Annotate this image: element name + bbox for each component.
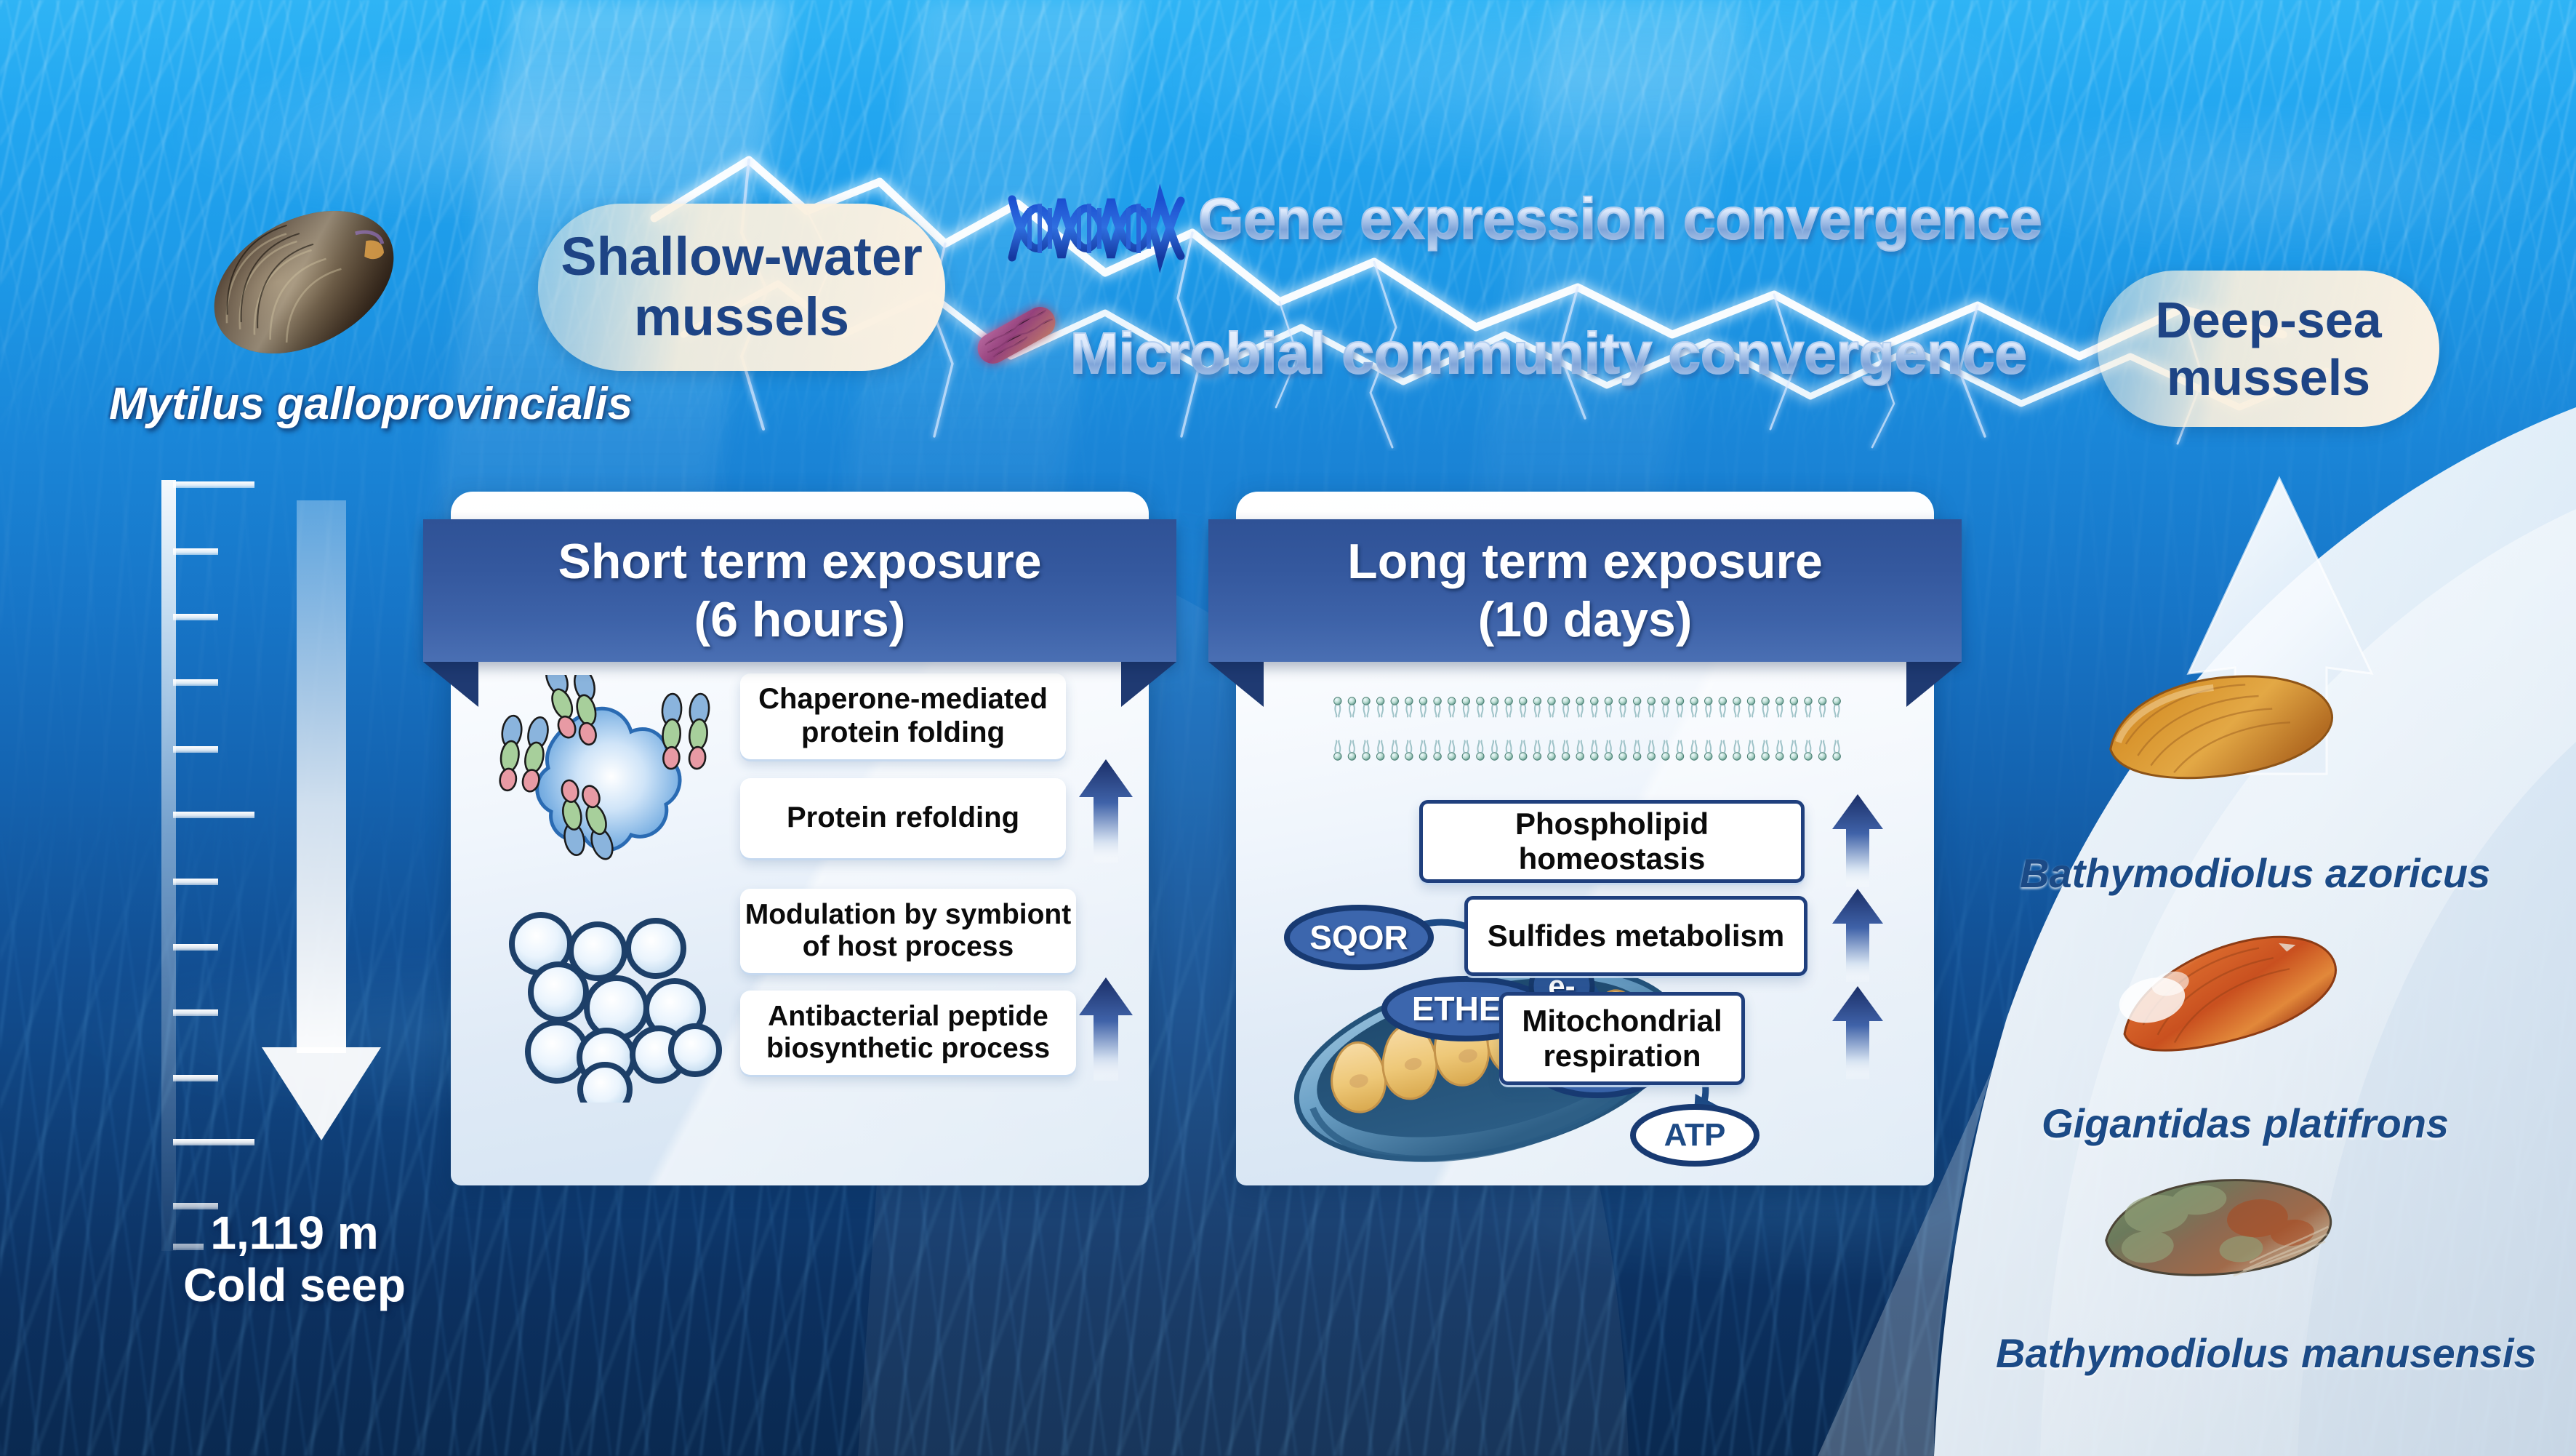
process-box-protein-refolding: Protein refolding [740, 778, 1066, 858]
process-line-1: Antibacterial peptide [766, 1001, 1050, 1033]
depth-value-label: 1,119 m Cold seep [174, 1207, 414, 1311]
process-box-mitochondrial-respiration: Mitochondrial respiration [1499, 992, 1745, 1085]
panel-title-line-1: Long term exposure [1347, 532, 1823, 591]
process-line-1: Protein refolding [787, 801, 1019, 835]
species-name-platifrons: Gigantidas platifrons [2042, 1100, 2449, 1147]
shallow-species-name: Mytilus galloprovincialis [109, 378, 633, 430]
process-line-1: Phospholipid homeostasis [1423, 807, 1801, 876]
panel-long-term: Long term exposure (10 days) [1236, 465, 1934, 1185]
pathway-node-sqor-label: SQOR [1284, 905, 1434, 970]
graphical-abstract-figure: Gene expression convergence Microbial co… [0, 0, 2576, 1456]
panel-title-line-1: Short term exposure [558, 532, 1041, 591]
mussel-photo-azoricus [2095, 658, 2343, 796]
process-box-symbiont-modulation: Modulation by symbiont of host process [740, 889, 1076, 973]
convergence-line-microbial: Microbial community convergence [1070, 320, 2027, 387]
depth-ruler-icon [153, 473, 458, 1287]
dna-double-helix-icon [1005, 179, 1187, 273]
process-line-1: Modulation by symbiont [745, 899, 1071, 931]
process-line-2: respiration [1522, 1039, 1722, 1073]
panel-title-line-2: (6 hours) [694, 591, 906, 649]
up-arrow-icon [1078, 975, 1134, 1084]
pill-line-1: Shallow-water [561, 227, 923, 287]
process-box-chaperone-folding: Chaperone-mediated protein folding [740, 673, 1066, 759]
process-box-antibacterial-peptide: Antibacterial peptide biosynthetic proce… [740, 991, 1076, 1075]
ribbon-fold-right [1906, 662, 1962, 707]
shallow-water-mussel-photo [188, 188, 420, 377]
pathway-node-sqor: SQOR [1284, 905, 1434, 970]
depth-habitat: Cold seep [174, 1260, 414, 1312]
process-line-1: Chaperone-mediated [758, 683, 1048, 716]
panel-title-line-2: (10 days) [1478, 591, 1693, 649]
process-line-2: of host process [745, 931, 1071, 963]
shallow-water-mussels-label: Shallow-water mussels [538, 204, 945, 371]
up-arrow-icon [1078, 756, 1134, 865]
pill-line-2: mussels [561, 287, 923, 348]
chaperone-protein-icon [493, 675, 726, 871]
process-box-sulfides-metabolism: Sulfides metabolism [1464, 896, 1807, 976]
panel-short-term: Short term exposure (6 hours) [451, 465, 1149, 1185]
species-name-manusensis: Bathymodiolus manusensis [1996, 1329, 2537, 1377]
process-box-phospholipid-homeostasis: Phospholipid homeostasis [1419, 800, 1805, 883]
convergence-line-gene: Gene expression convergence [1198, 185, 2042, 252]
depth-meters: 1,119 m [174, 1207, 414, 1260]
up-arrow-icon [1831, 983, 1885, 1082]
panel-short-term-title: Short term exposure (6 hours) [423, 519, 1176, 662]
species-name-azoricus: Bathymodiolus azoricus [2020, 849, 2490, 897]
process-line-2: protein folding [758, 716, 1048, 750]
pathway-node-atp-label: ATP [1630, 1104, 1760, 1167]
pathway-node-atp: ATP [1630, 1104, 1760, 1167]
pill-line-1: Deep-sea [2155, 292, 2381, 348]
pill-line-2: mussels [2155, 349, 2381, 406]
deep-sea-mussels-label: Deep-sea mussels [2098, 271, 2439, 427]
bacterial-cocci-cluster-icon [496, 899, 736, 1103]
rod-bacterium-icon [958, 291, 1075, 378]
mussel-photo-platifrons [2107, 922, 2347, 1060]
up-arrow-icon [1831, 791, 1885, 890]
phospholipid-bilayer-icon [1331, 695, 1844, 762]
process-line-1: Mitochondrial [1522, 1004, 1722, 1039]
mussel-photo-manusensis [2094, 1164, 2341, 1295]
up-arrow-icon [1831, 886, 1885, 985]
process-line-2: biosynthetic process [766, 1033, 1050, 1065]
process-line-1: Sulfides metabolism [1488, 919, 1784, 953]
panel-long-term-title: Long term exposure (10 days) [1208, 519, 1962, 662]
